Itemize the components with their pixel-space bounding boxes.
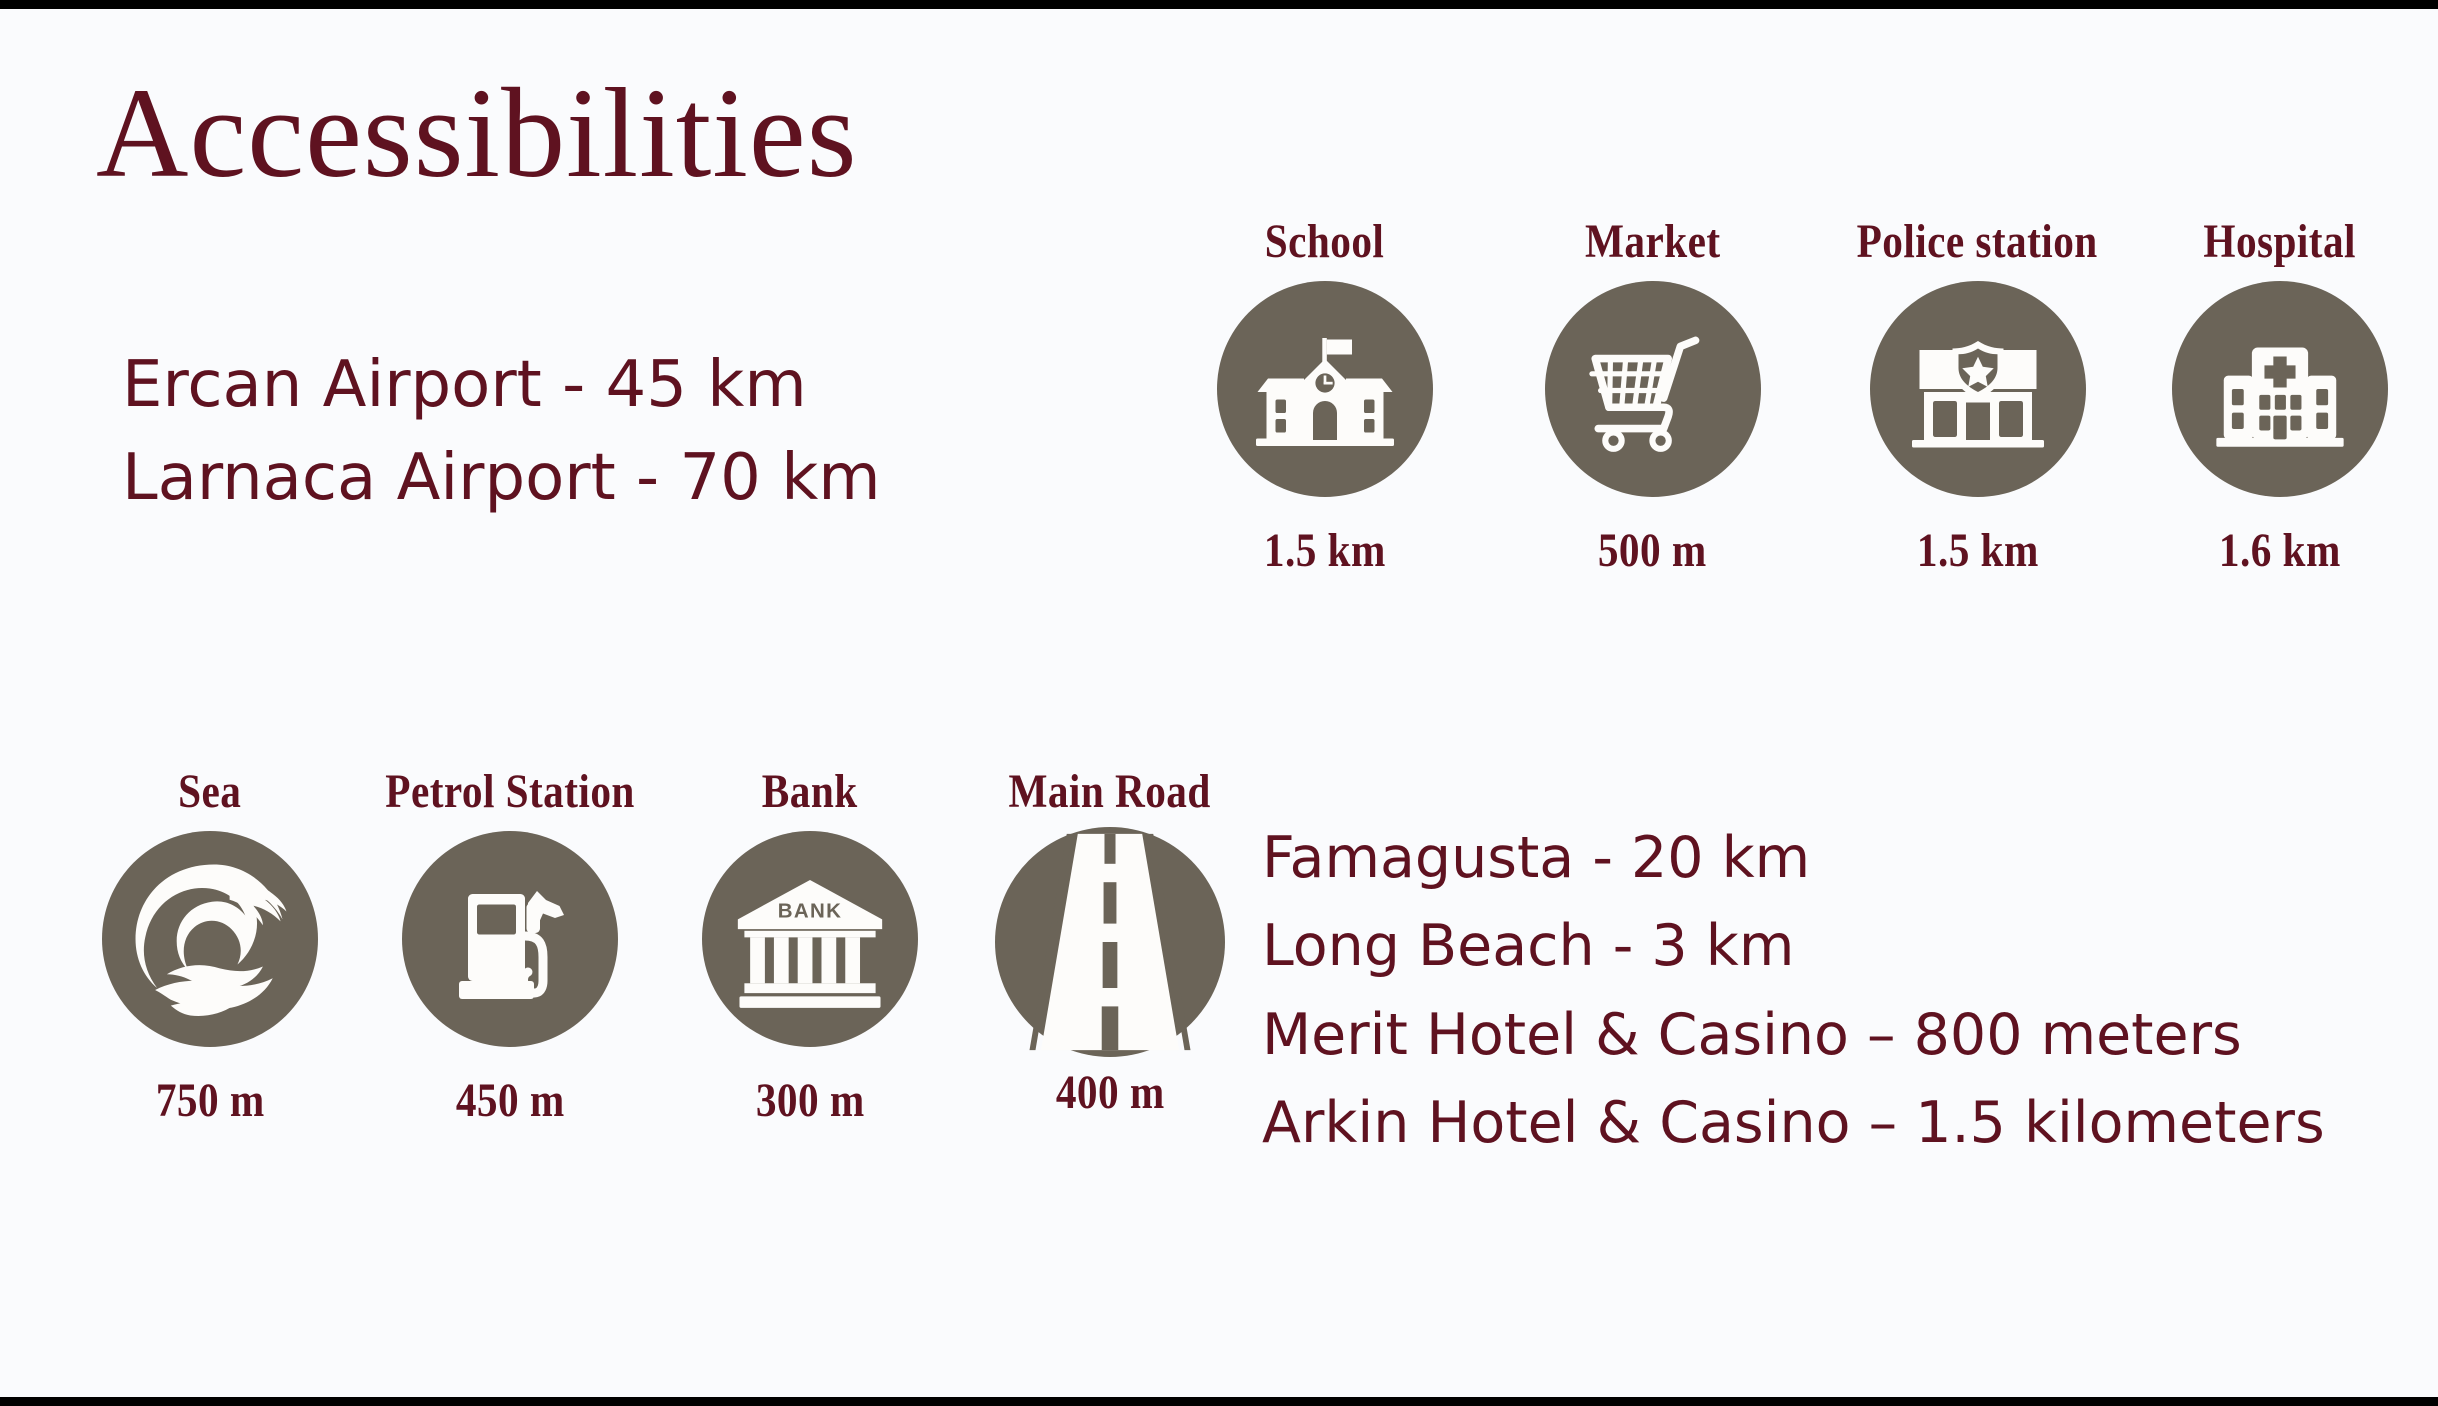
bank-icon-text: BANK	[778, 900, 842, 923]
destination-line: Arkin Hotel & Casino – 1.5 kilometers	[1262, 1079, 2325, 1167]
amenity-label: Hospital	[2204, 214, 2357, 269]
amenity-distance: 1.5 km	[1264, 523, 1386, 578]
amenity-label: Sea	[178, 764, 241, 819]
police-station-icon	[1870, 281, 2086, 497]
amenity-market: Market	[1490, 214, 1815, 578]
amenity-sea: Sea 750 m	[60, 764, 360, 1128]
amenity-distance: 1.5 km	[1917, 523, 2039, 578]
amenity-distance: 1.6 km	[2219, 523, 2341, 578]
shopping-cart-icon	[1545, 281, 1761, 497]
amenity-label: Police station	[1857, 214, 2098, 269]
amenity-bank: Bank BANK	[660, 764, 960, 1128]
amenity-label: Market	[1585, 214, 1721, 269]
destination-distance-list: Famagusta - 20 km Long Beach - 3 km Meri…	[1262, 814, 2325, 1167]
amenity-main-road: Main Road 400 m	[960, 764, 1260, 1128]
amenity-label: School	[1265, 214, 1385, 269]
amenity-row-bottom: Sea 750 m Petrol Station	[60, 764, 1270, 1128]
road-icon	[995, 827, 1225, 1057]
fuel-pump-icon	[402, 831, 618, 1047]
hospital-icon	[2172, 281, 2388, 497]
destination-line: Famagusta - 20 km	[1262, 814, 2325, 902]
amenity-label: Main Road	[1009, 764, 1211, 819]
wave-icon	[102, 831, 318, 1047]
amenity-distance: 500 m	[1598, 523, 1707, 578]
destination-line: Long Beach - 3 km	[1262, 902, 2325, 990]
amenity-school: School	[1160, 214, 1490, 578]
airport-line: Ercan Airport - 45 km	[122, 339, 881, 432]
amenity-label: Bank	[762, 764, 858, 819]
school-icon	[1217, 281, 1433, 497]
amenity-police-station: Police station	[1815, 214, 2140, 578]
amenity-petrol-station: Petrol Station 450 m	[360, 764, 660, 1128]
destination-line: Merit Hotel & Casino – 800 meters	[1262, 991, 2325, 1079]
page-title: Accessibilities	[96, 64, 858, 202]
airport-distance-list: Ercan Airport - 45 km Larnaca Airport - …	[122, 339, 881, 525]
amenity-distance: 400 m	[1056, 1065, 1165, 1120]
amenity-distance: 750 m	[156, 1073, 265, 1128]
amenity-distance: 300 m	[756, 1073, 865, 1128]
airport-line: Larnaca Airport - 70 km	[122, 432, 881, 525]
bank-icon: BANK	[702, 831, 918, 1047]
accessibilities-slide: Accessibilities Ercan Airport - 45 km La…	[0, 0, 2438, 1406]
amenity-distance: 450 m	[456, 1073, 565, 1128]
amenity-row-top: School	[1160, 214, 2420, 578]
amenity-hospital: Hospital	[2140, 214, 2420, 578]
amenity-label: Petrol Station	[385, 764, 634, 819]
